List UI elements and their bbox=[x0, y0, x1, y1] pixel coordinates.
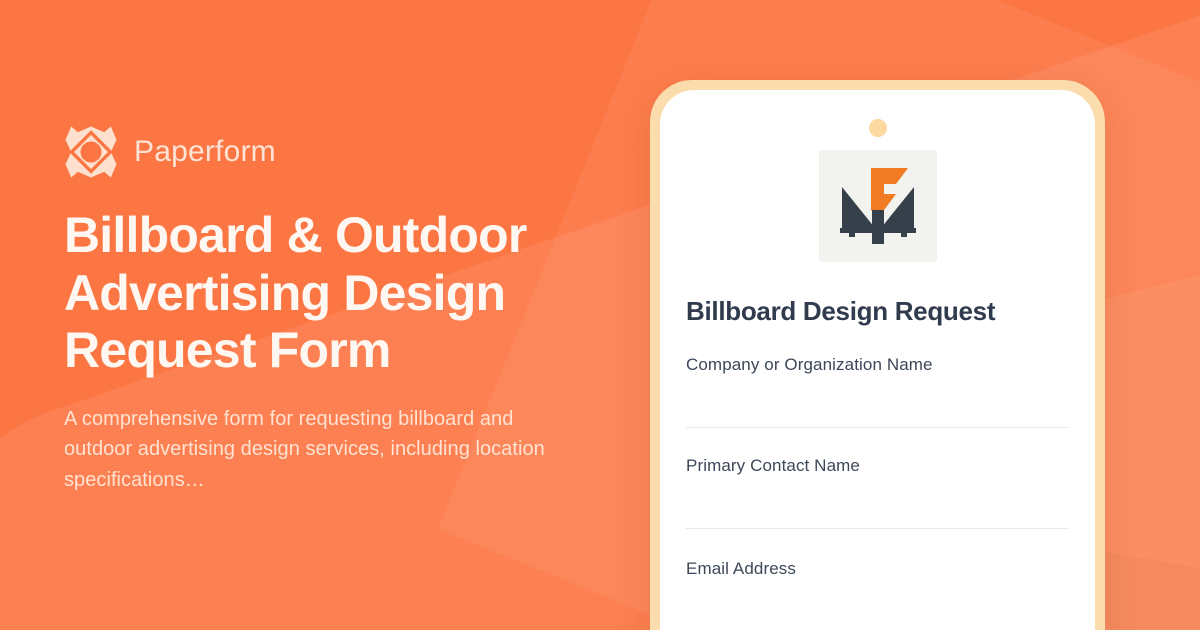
brand-lockup: Paperform bbox=[64, 125, 624, 179]
page-subtitle: A comprehensive form for requesting bill… bbox=[64, 404, 584, 495]
field-label: Email Address bbox=[686, 559, 1069, 579]
form-field-contact-name[interactable]: Primary Contact Name bbox=[686, 456, 1069, 529]
phone-mockup: Billboard Design Request Company or Orga… bbox=[650, 80, 1105, 630]
form-logo-tile bbox=[819, 150, 937, 262]
form-field-company[interactable]: Company or Organization Name bbox=[686, 355, 1069, 428]
field-label: Primary Contact Name bbox=[686, 456, 1069, 476]
form-field-email[interactable]: Email Address bbox=[686, 559, 1069, 579]
field-label: Company or Organization Name bbox=[686, 355, 1069, 375]
field-divider bbox=[686, 528, 1069, 529]
page-title: Billboard & Outdoor Advertising Design R… bbox=[64, 207, 584, 380]
camera-dot-icon bbox=[869, 119, 887, 137]
phone-screen: Billboard Design Request Company or Orga… bbox=[660, 90, 1095, 630]
hero-content: Paperform Billboard & Outdoor Advertisin… bbox=[64, 0, 624, 630]
paperform-starburst-icon bbox=[64, 125, 118, 179]
form-title: Billboard Design Request bbox=[686, 296, 1069, 327]
billboard-logo-icon bbox=[834, 162, 922, 250]
brand-name: Paperform bbox=[134, 135, 276, 169]
field-divider bbox=[686, 427, 1069, 428]
